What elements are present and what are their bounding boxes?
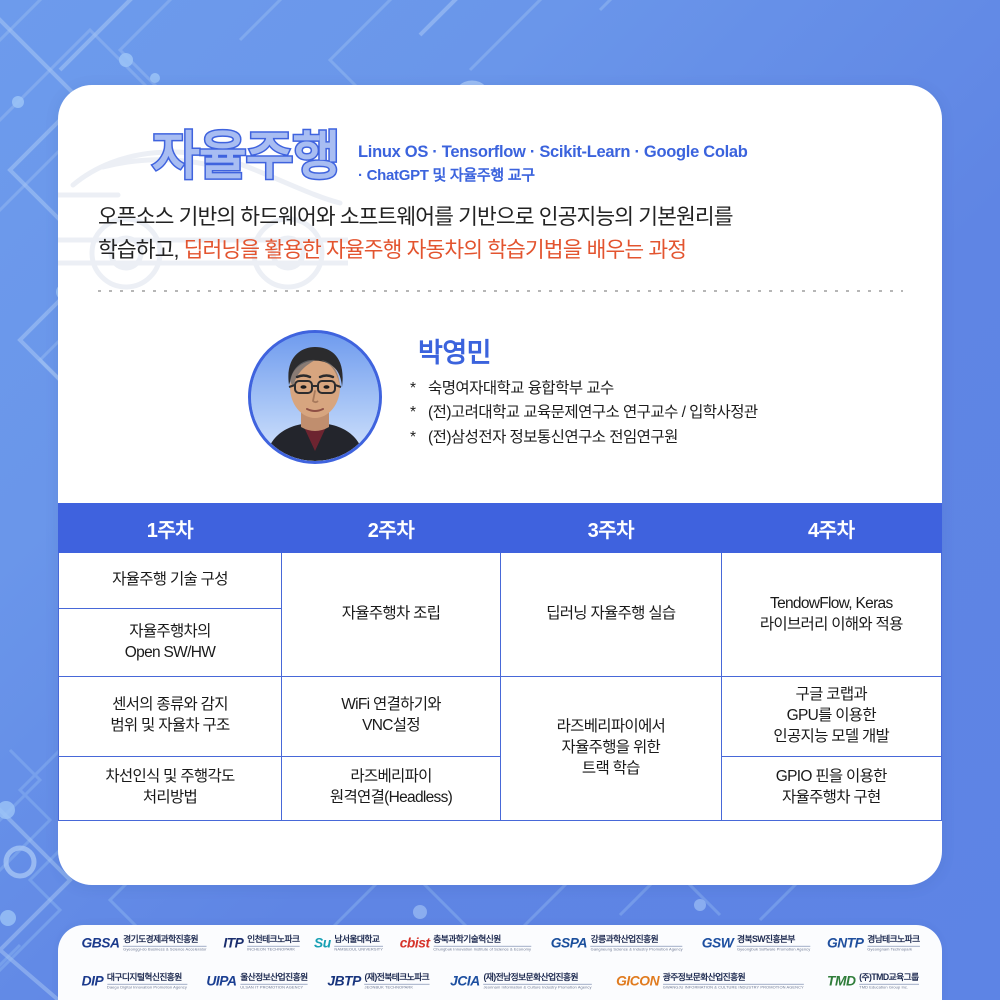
sponsor-logo: ITP인천테크노파크INCHEON TECHNOPARK xyxy=(224,936,300,952)
cell-week1-item1: 자율주행 기술 구성 xyxy=(59,553,282,609)
sponsor-logo: GICON광주정보문화산업진흥원GWANGJU INFORMATION & CU… xyxy=(617,974,805,990)
sponsor-logo: DIP대구디지털혁신진흥원Daegu Digital Innovation Pr… xyxy=(82,974,187,990)
sponsor-logo-mark: JBTP xyxy=(327,975,360,989)
sponsor-logo-mark: GICON xyxy=(617,975,660,989)
section-divider xyxy=(98,290,903,292)
sponsor-footer: GBSA경기도경제과학진흥원Gyeonggi-do Business & Sci… xyxy=(58,925,942,1000)
sponsor-logo-name-en: NAMSEOUL UNIVERSITY xyxy=(335,948,384,952)
course-description-line-2: 학습하고, 딥러닝을 활용한 자율주행 자동차의 학습기법을 배우는 과정 xyxy=(98,234,910,267)
table-row: 차선인식 및 주행각도처리방법 라즈베리파이원격연결(Headless) GPI… xyxy=(59,756,942,820)
tech-stack-line-1: Linux OS · Tensorflow · Scikit-Learn · G… xyxy=(358,141,828,165)
header-section: 자율주행 Linux OS · Tensorflow · Scikit-Lear… xyxy=(58,85,942,300)
sponsor-logo-row-2: DIP대구디지털혁신진흥원Daegu Digital Innovation Pr… xyxy=(58,963,942,1000)
sponsor-logo-name-ko: 경남테크노파크 xyxy=(867,936,919,945)
sponsor-logo: GNTP경남테크노파크Gyeongnam Technopark xyxy=(827,936,920,952)
sponsor-logo-name-ko: 광주정보문화산업진흥원 xyxy=(663,974,804,983)
sponsor-logo-name-en: Gangneung Science & Industry Promotion A… xyxy=(591,948,683,952)
sponsor-logo: JBTP(재)전북테크노파크JEONBUK TECHNOPARK xyxy=(327,974,429,990)
sponsor-logo-name-en: INCHEON TECHNOPARK xyxy=(247,948,299,952)
sponsor-logo-name-en: JEONBUK TECHNOPARK xyxy=(365,986,430,990)
sponsor-logo-name-ko: 남서울대학교 xyxy=(335,936,384,945)
table-row: 자율주행 기술 구성 자율주행차 조립 딥러닝 자율주행 실습 TendowFl… xyxy=(59,553,942,609)
sponsor-logo-name-en: ULSAN IT PROMOTION AGENCY xyxy=(241,986,308,990)
bullet-marker: * xyxy=(410,426,428,450)
tech-stack-subtitle: Linux OS · Tensorflow · Scikit-Learn · G… xyxy=(358,141,828,187)
cell-week1-item3: 센서의 종류와 감지범위 및 자율차 구조 xyxy=(59,677,282,757)
sponsor-logo-row-1: GBSA경기도경제과학진흥원Gyeonggi-do Business & Sci… xyxy=(58,925,942,963)
sponsor-logo: UIPA울산정보산업진흥원ULSAN IT PROMOTION AGENCY xyxy=(207,974,308,990)
cell-week2-item1: 자율주행차 조립 xyxy=(281,553,500,677)
course-description-plain: 학습하고, xyxy=(98,238,184,262)
sponsor-logo-name-en: Chungbuk Innovation Institute of Science… xyxy=(434,948,532,952)
poster-root: 자율주행 Linux OS · Tensorflow · Scikit-Lear… xyxy=(0,0,1000,1000)
tech-stack-line-2: · ChatGPT 및 자율주행 교구 xyxy=(358,165,828,187)
sponsor-logo-name-ko: 인천테크노파크 xyxy=(247,936,299,945)
sponsor-logo-mark: JCIA xyxy=(450,975,480,989)
sponsor-logo-name-ko: (주)TMD교육그룹 xyxy=(859,974,918,983)
credential-item: *(전)삼성전자 정보통신연구소 전임연구원 xyxy=(410,426,910,450)
credential-text: 숙명여자대학교 융합학부 교수 xyxy=(428,380,614,397)
sponsor-logo-name-ko: 경기도경제과학진흥원 xyxy=(123,936,206,945)
cell-week4-item1: TendowFlow, Keras라이브러리 이해와 적용 xyxy=(721,553,941,677)
credential-item: *(전)고려대학교 교육문제연구소 연구교수 / 입학사정관 xyxy=(410,401,910,425)
cell-week1-item2: 자율주행차의Open SW/HW xyxy=(59,609,282,677)
sponsor-logo-name-ko: (재)전북테크노파크 xyxy=(365,974,430,983)
sponsor-logo: Su남서울대학교NAMSEOUL UNIVERSITY xyxy=(314,936,383,952)
sponsor-logo-mark: TMD xyxy=(827,975,856,989)
sponsor-logo: JCIA(재)전남정보문화산업진흥원Jeonnam Information & … xyxy=(450,974,591,990)
sponsor-logo-name-en: TMD Education Group Inc. xyxy=(859,986,918,990)
instructor-section: 박영민 *숙명여자대학교 융합학부 교수 *(전)고려대학교 교육문제연구소 연… xyxy=(58,325,942,485)
sponsor-logo-name-en: Gyeonggi-do Business & Science Accelerat… xyxy=(123,948,206,952)
sponsor-logo-name-ko: 강릉과학산업진흥원 xyxy=(591,936,683,945)
sponsor-logo-name-en: Jeonnam Information & Culture Industry P… xyxy=(484,986,592,990)
instructor-name: 박영민 xyxy=(418,331,491,370)
page-title: 자율주행 xyxy=(152,131,339,183)
sponsor-logo-mark: GSPA xyxy=(551,937,587,951)
table-row: 센서의 종류와 감지범위 및 자율차 구조 WiFi 연결하기와VNC설정 라즈… xyxy=(59,677,942,757)
sponsor-logo-name-ko: (재)전남정보문화산업진흥원 xyxy=(484,974,592,983)
sponsor-logo-mark: UIPA xyxy=(207,975,237,989)
table-header-row: 1주차 2주차 3주차 4주차 xyxy=(59,504,942,553)
sponsor-logo-mark: ITP xyxy=(224,937,244,951)
instructor-credentials: *숙명여자대학교 융합학부 교수 *(전)고려대학교 교육문제연구소 연구교수 … xyxy=(410,377,910,450)
course-description-line-1: 오픈소스 기반의 하드웨어와 소프트웨어를 기반으로 인공지능의 기본원리를 xyxy=(98,201,910,234)
cell-week3-item2: 라즈베리파이에서자율주행을 위한트랙 학습 xyxy=(501,677,721,821)
sponsor-logo: TMD(주)TMD교육그룹TMD Education Group Inc. xyxy=(827,974,919,990)
credential-text: (전)삼성전자 정보통신연구소 전임연구원 xyxy=(428,429,678,446)
column-header-week1: 1주차 xyxy=(59,504,282,553)
cell-week3-item1: 딥러닝 자율주행 실습 xyxy=(501,553,721,677)
sponsor-logo: GSW경북SW진흥본부Gyeongbuk Software Promotion … xyxy=(702,936,811,952)
cell-week2-item2: WiFi 연결하기와VNC설정 xyxy=(281,677,500,757)
sponsor-logo: GSPA강릉과학산업진흥원Gangneung Science & Industr… xyxy=(551,936,683,952)
sponsor-logo-mark: GNTP xyxy=(827,937,863,951)
sponsor-logo: cbist충북과학기술혁신원Chungbuk Innovation Instit… xyxy=(400,936,531,952)
column-header-week3: 3주차 xyxy=(501,504,721,553)
sponsor-logo-name-ko: 충북과학기술혁신원 xyxy=(434,936,532,945)
sponsor-logo-name-en: GWANGJU INFORMATION & CULTURE INDUSTRY P… xyxy=(663,986,804,990)
sponsor-logo: GBSA경기도경제과학진흥원Gyeonggi-do Business & Sci… xyxy=(82,936,207,952)
column-header-week4: 4주차 xyxy=(721,504,941,553)
sponsor-logo-name-ko: 울산정보산업진흥원 xyxy=(241,974,308,983)
bullet-marker: * xyxy=(410,377,428,401)
sponsor-logo-mark: GBSA xyxy=(82,937,120,951)
content-card: 자율주행 Linux OS · Tensorflow · Scikit-Lear… xyxy=(58,85,942,885)
cell-week4-item2: 구글 코랩과GPU를 이용한인공지능 모델 개발 xyxy=(721,677,941,757)
sponsor-logo-mark: cbist xyxy=(400,937,430,951)
sponsor-logo-mark: DIP xyxy=(82,975,104,989)
credential-text: (전)고려대학교 교육문제연구소 연구교수 / 입학사정관 xyxy=(428,404,758,421)
bullet-marker: * xyxy=(410,401,428,425)
sponsor-logo-name-en: Gyeongnam Technopark xyxy=(867,948,919,952)
column-header-week2: 2주차 xyxy=(281,504,500,553)
cell-week1-item4: 차선인식 및 주행각도처리방법 xyxy=(59,756,282,820)
sponsor-logo-mark: GSW xyxy=(702,937,734,951)
instructor-avatar xyxy=(248,330,382,464)
sponsor-logo-name-en: Daegu Digital Innovation Promotion Agenc… xyxy=(107,986,187,990)
sponsor-logo-name-en: Gyeongbuk Software Promotion Agency xyxy=(737,948,810,952)
avatar-portrait-icon xyxy=(251,333,379,461)
cell-week2-item3: 라즈베리파이원격연결(Headless) xyxy=(281,756,500,820)
cell-week4-item3: GPIO 핀을 이용한자율주행차 구현 xyxy=(721,756,941,820)
course-description-highlight: 딥러닝을 활용한 자율주행 자동차의 학습기법을 배우는 과정 xyxy=(184,238,686,262)
curriculum-table: 1주차 2주차 3주차 4주차 자율주행 기술 구성 자율주행차 조립 딥러닝 … xyxy=(58,503,942,821)
course-description: 오픈소스 기반의 하드웨어와 소프트웨어를 기반으로 인공지능의 기본원리를 학… xyxy=(98,201,910,268)
sponsor-logo-mark: Su xyxy=(314,937,331,951)
sponsor-logo-name-ko: 대구디지털혁신진흥원 xyxy=(107,974,187,983)
sponsor-logo-name-ko: 경북SW진흥본부 xyxy=(737,936,810,945)
credential-item: *숙명여자대학교 융합학부 교수 xyxy=(410,377,910,401)
